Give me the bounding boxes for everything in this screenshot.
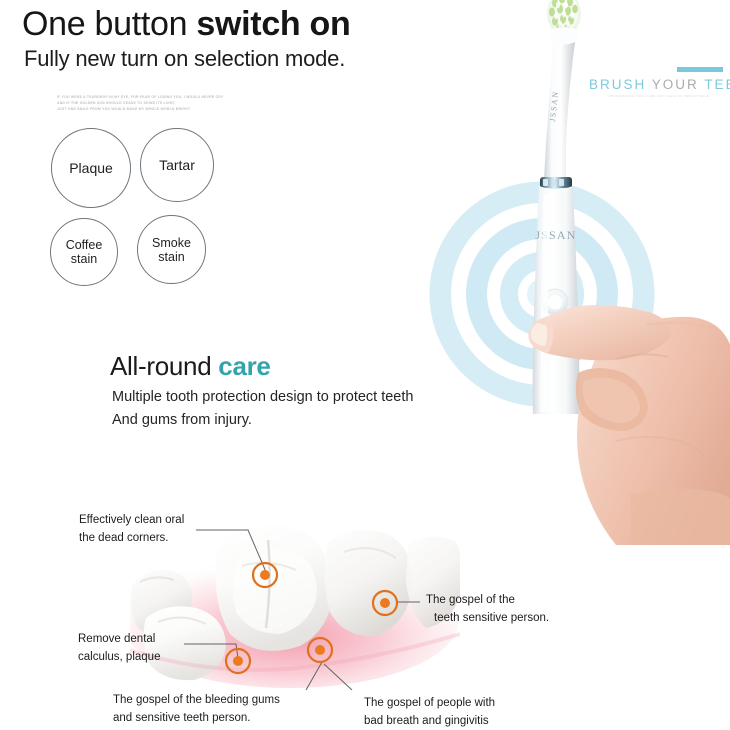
feature-circle-label: Smoke stain [138, 236, 205, 264]
page-subtitle: Fully new turn on selection mode. [24, 44, 345, 74]
microcopy-line-3: JUST ONE SMILE FROM YOU WOULD MAKE MY WH… [57, 106, 297, 112]
care-title-accent: care [218, 351, 270, 381]
callout-line-2: and sensitive teeth person. [113, 709, 280, 727]
callout-dental-calculus: Remove dental calculus, plaque [78, 630, 160, 666]
banner-word-your: YOUR [652, 77, 699, 92]
care-section-body: Multiple tooth protection design to prot… [112, 386, 413, 432]
callout-bleeding-gums: The gospel of the bleeding gums and sens… [113, 691, 280, 727]
care-section-title: All-round care [110, 350, 271, 382]
banner-subtitle: PROFESSIONAL ORAL CARE FOR A HEALTHY BRI… [609, 95, 709, 98]
brush-collar [540, 177, 572, 188]
callout-line-2: the dead corners. [79, 529, 184, 547]
callout-line-1: Effectively clean oral [79, 511, 184, 529]
callout-line-2: calculus, plaque [78, 648, 160, 666]
care-body-line-2: And gums from injury. [112, 409, 413, 432]
feature-circle-plaque: Plaque [51, 128, 131, 208]
callout-line-1: Remove dental [78, 630, 160, 648]
callout-line-1: The gospel of the [426, 591, 549, 609]
feature-circle-tartar: Tartar [140, 128, 214, 202]
care-body-line-1: Multiple tooth protection design to prot… [112, 386, 413, 409]
callout-line-1: The gospel of people with [364, 694, 495, 712]
banner-accent-bar [677, 67, 723, 72]
decorative-microcopy: IF YOU WERE A TEARDROP IN MY EYE, FOR FE… [57, 94, 297, 113]
feature-circle-smoke-stain: Smoke stain [137, 215, 206, 284]
feature-circle-label: Plaque [69, 160, 113, 176]
page-title: One button switch on [22, 4, 350, 44]
banner-word-teeth: TEETH [704, 77, 730, 92]
callout-dead-corners: Effectively clean oral the dead corners. [79, 511, 184, 547]
banner-title: BRUSH YOUR TEETH [589, 77, 730, 92]
hand-pressing-button-image [520, 255, 730, 545]
callout-line-1: The gospel of the bleeding gums [113, 691, 280, 709]
callout-line-2: teeth sensitive person. [426, 609, 549, 627]
callout-bad-breath: The gospel of people with bad breath and… [364, 694, 495, 730]
product-marketing-image: One button switch on Fully new turn on s… [0, 0, 730, 730]
wrist [630, 488, 730, 545]
callout-teeth-sensitive: The gospel of the teeth sensitive person… [426, 591, 549, 627]
hand-svg [520, 255, 730, 545]
callout-line-2: bad breath and gingivitis [364, 712, 495, 730]
page-title-light: One button [22, 5, 196, 43]
feature-circle-label: Coffee stain [51, 238, 117, 266]
banner-word-brush: BRUSH [589, 77, 646, 92]
feature-circle-label: Tartar [159, 157, 195, 173]
feature-circle-coffee-stain: Coffee stain [50, 218, 118, 286]
brush-handle-brand-text: JSSAN [535, 228, 576, 242]
care-title-main: All-round [110, 351, 218, 381]
page-title-bold: switch on [196, 5, 350, 43]
